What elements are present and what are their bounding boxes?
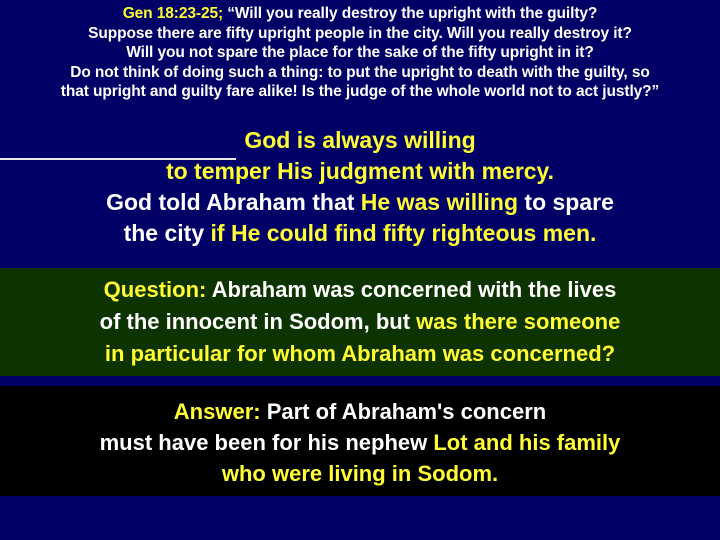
scripture-text-1: “Will you really destroy the upright wit… xyxy=(223,5,597,22)
question-line-1-text: Abraham was concerned with the lives xyxy=(206,277,616,302)
answer-line-1-text: Part of Abraham's concern xyxy=(261,399,547,424)
statement-line-1-text: God is always willing xyxy=(244,127,475,153)
statement-line-3: God told Abraham that He was willing to … xyxy=(0,187,720,218)
question-line-2: of the innocent in Sodom, but was there … xyxy=(0,306,720,338)
question-line-2-white: of the innocent in Sodom, but xyxy=(100,309,417,334)
statement-line-4-white: the city xyxy=(124,220,211,246)
divider-band xyxy=(0,376,720,386)
answer-line-3-highlight: who were living in Sodom. xyxy=(222,461,498,486)
statement-line-4: the city if He could find fifty righteou… xyxy=(0,218,720,249)
answer-line-2: must have been for his nephew Lot and hi… xyxy=(0,427,720,458)
slide-canvas: Gen 18:23-25; “Will you really destroy t… xyxy=(0,0,720,540)
question-panel: Question: Abraham was concerned with the… xyxy=(0,268,720,376)
answer-panel: Answer: Part of Abraham's concern must h… xyxy=(0,386,720,496)
statement-line-1: God is always willing xyxy=(0,125,720,156)
scripture-panel: Gen 18:23-25; “Will you really destroy t… xyxy=(0,0,720,118)
question-label: Question: xyxy=(104,277,207,302)
footer-band xyxy=(0,496,720,540)
scripture-reference: Gen 18:23-25; xyxy=(123,5,223,22)
answer-line-3: who were living in Sodom. xyxy=(0,458,720,489)
question-line-2-highlight: was there someone xyxy=(416,309,620,334)
statement-line-4-highlight: if He could find fifty righteous men. xyxy=(211,220,597,246)
statement-line-3-white-b: to spare xyxy=(518,189,614,215)
scripture-line-3: Will you not spare the place for the sak… xyxy=(0,43,720,63)
question-line-3: in particular for whom Abraham was conce… xyxy=(0,338,720,370)
statement-line-3-white-a: God told Abraham that xyxy=(106,189,361,215)
question-line-3-highlight: in particular for whom Abraham was conce… xyxy=(105,341,615,366)
answer-line-2-white: must have been for his nephew xyxy=(100,430,434,455)
answer-line-2-highlight: Lot and his family xyxy=(433,430,620,455)
answer-label: Answer: xyxy=(174,399,261,424)
answer-line-1: Answer: Part of Abraham's concern xyxy=(0,396,720,427)
horizontal-rule xyxy=(0,158,236,160)
statement-line-2: to temper His judgment with mercy. xyxy=(0,156,720,187)
scripture-line-1: Gen 18:23-25; “Will you really destroy t… xyxy=(0,4,720,24)
statement-line-2-text: to temper His judgment with mercy. xyxy=(166,158,554,184)
question-line-1: Question: Abraham was concerned with the… xyxy=(0,274,720,306)
scripture-line-5: that upright and guilty fare alike! Is t… xyxy=(0,82,720,102)
statement-panel: God is always willing to temper His judg… xyxy=(0,118,720,268)
scripture-line-4: Do not think of doing such a thing: to p… xyxy=(0,63,720,83)
statement-line-3-highlight: He was willing xyxy=(361,189,518,215)
scripture-line-2: Suppose there are fifty upright people i… xyxy=(0,24,720,44)
